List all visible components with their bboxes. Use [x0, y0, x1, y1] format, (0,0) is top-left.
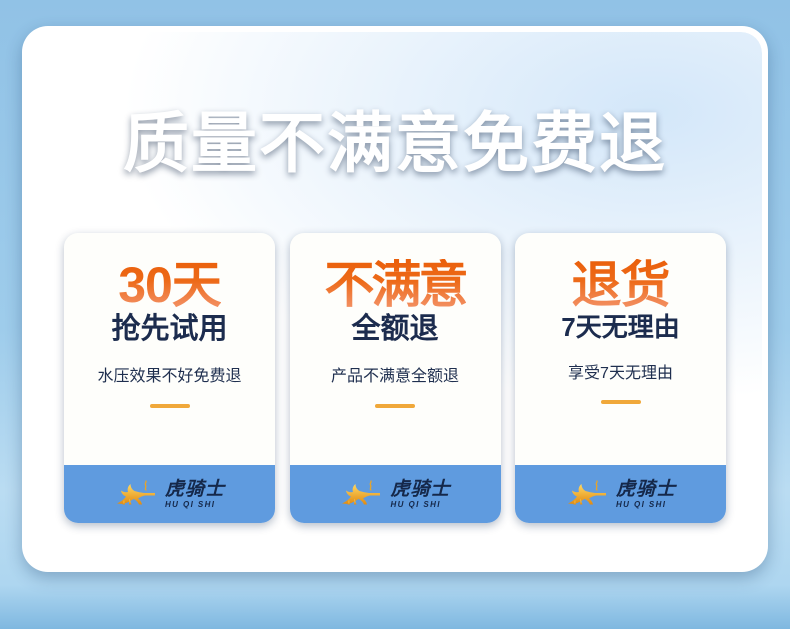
page-title: 质量不满意免费退: [28, 110, 762, 176]
brand-name-cn: 虎骑士: [390, 480, 450, 499]
brand-lockup: 虎骑士 HU QI SHI: [616, 480, 676, 509]
tiger-logo-icon: [114, 479, 158, 509]
card-description: 水压效果不好免费退: [97, 367, 241, 386]
card-brand-footer: 虎骑士 HU QI SHI: [64, 465, 275, 523]
brand-name-en: HU QI SHI: [390, 501, 440, 509]
brand-name-en: HU QI SHI: [165, 501, 215, 509]
guarantee-card: 退货 7天无理由 享受7天无理由: [515, 233, 726, 523]
card-subtitle: 全额退: [351, 313, 438, 346]
card-subtitle: 抢先试用: [111, 313, 227, 346]
brand-lockup: 虎骑士 HU QI SHI: [390, 480, 450, 509]
card-divider: [601, 400, 641, 404]
card-brand-footer: 虎骑士 HU QI SHI: [515, 465, 726, 523]
card-body: 退货 7天无理由 享受7天无理由: [515, 233, 726, 465]
card-title: 不满意: [325, 259, 466, 311]
tiger-logo-icon: [339, 479, 383, 509]
card-body: 30天 抢先试用 水压效果不好免费退: [64, 233, 275, 465]
brand-name-en: HU QI SHI: [616, 501, 666, 509]
promo-banner: 质量不满意免费退 30天 抢先试用 水压效果不好免费退: [0, 0, 790, 629]
card-title: 退货: [572, 259, 670, 311]
panel-blue-background: 质量不满意免费退 30天 抢先试用 水压效果不好免费退: [28, 32, 762, 566]
panel-white-frame: 质量不满意免费退 30天 抢先试用 水压效果不好免费退: [22, 26, 768, 572]
card-subtitle: 7天无理由: [561, 313, 679, 343]
card-description: 产品不满意全额退: [331, 367, 459, 386]
card-description: 享受7天无理由: [568, 364, 673, 383]
card-divider: [375, 404, 415, 408]
guarantee-card-list: 30天 抢先试用 水压效果不好免费退: [64, 233, 726, 523]
guarantee-card: 不满意 全额退 产品不满意全额退: [290, 233, 501, 523]
guarantee-card: 30天 抢先试用 水压效果不好免费退: [64, 233, 275, 523]
brand-name-cn: 虎骑士: [616, 480, 676, 499]
card-divider: [150, 404, 190, 408]
card-body: 不满意 全额退 产品不满意全额退: [290, 233, 501, 465]
brand-lockup: 虎骑士 HU QI SHI: [165, 480, 225, 509]
tiger-logo-icon: [565, 479, 609, 509]
card-title: 30天: [118, 259, 221, 311]
card-brand-footer: 虎骑士 HU QI SHI: [290, 465, 501, 523]
brand-name-cn: 虎骑士: [165, 480, 225, 499]
